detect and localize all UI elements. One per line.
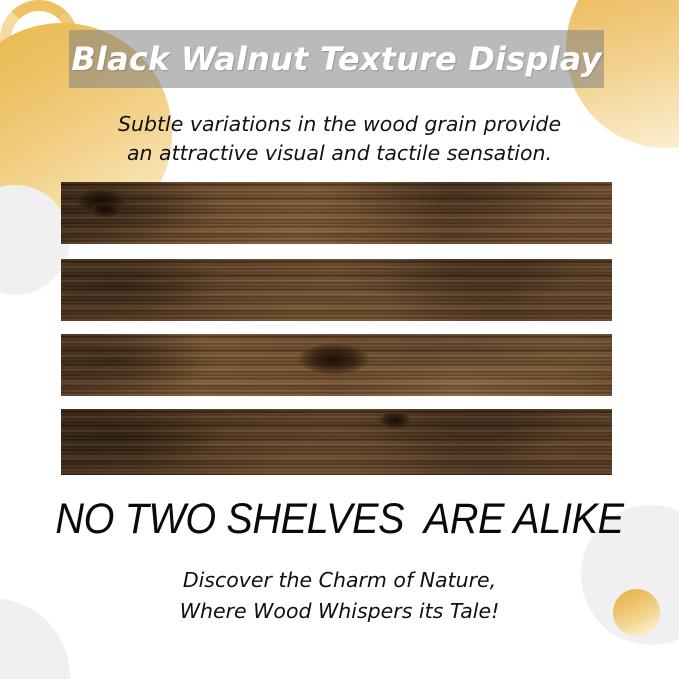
lead-line-2: an attractive visual and tactile sensati… [0, 139, 679, 168]
page-title: Black Walnut Texture Display [71, 40, 601, 78]
gold-ring-right-decoration [0, 0, 78, 78]
gray-circle-top-left-decoration [0, 185, 70, 295]
closing-tagline: Discover the Charm of Nature, Where Wood… [0, 565, 679, 627]
plank-1-grain-lines-secondary [61, 182, 612, 244]
closing-line-2: Where Wood Whispers its Tale! [0, 596, 679, 627]
headline: NO TWO SHELVES ARE ALIKE [27, 494, 652, 544]
lead-description: Subtle variations in the wood grain prov… [0, 110, 679, 168]
wood-plank-image-2 [61, 259, 612, 321]
plank-4-grain-lines-secondary [61, 409, 612, 475]
plank-3-knot [299, 344, 369, 374]
wood-plank-image-3 [61, 334, 612, 396]
closing-line-1: Discover the Charm of Nature, [0, 565, 679, 596]
title-banner: Black Walnut Texture Display [69, 30, 604, 88]
lead-line-1: Subtle variations in the wood grain prov… [0, 110, 679, 139]
wood-plank-image-1 [61, 182, 612, 244]
product-infographic-poster: Black Walnut Texture Display Subtle vari… [0, 0, 679, 679]
plank-4-knot [379, 411, 411, 429]
plank-2-grain-lines-secondary [61, 259, 612, 321]
plank-1-knot-inner [91, 202, 121, 218]
wood-plank-image-4 [61, 409, 612, 475]
